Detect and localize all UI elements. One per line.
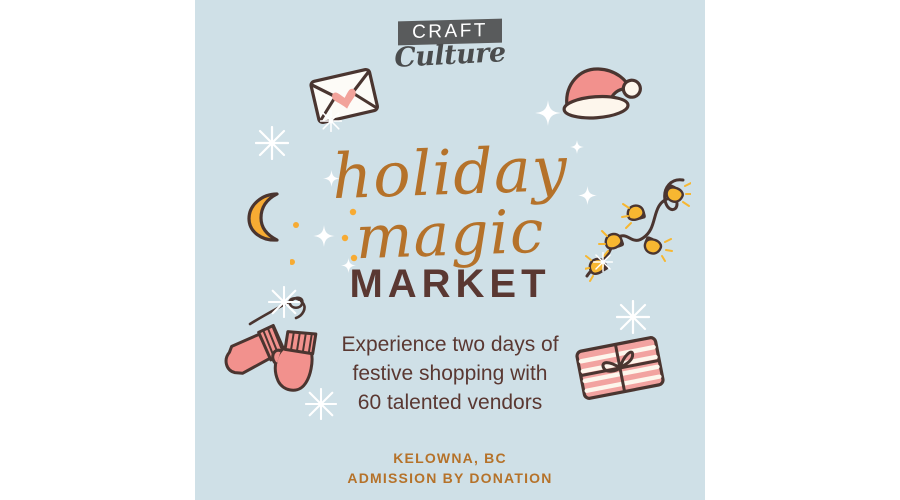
logo-culture-script: Culture [379, 36, 520, 74]
footer-admission: ADMISSION BY DONATION [195, 468, 705, 488]
description-line-2: festive shopping with [195, 359, 705, 388]
description-line-3: 60 talented vendors [195, 388, 705, 417]
sparkle-burst-icon [320, 110, 342, 132]
event-description: Experience two days of festive shopping … [195, 330, 705, 417]
description-line-1: Experience two days of [195, 330, 705, 359]
event-footer: KELOWNA, BC ADMISSION BY DONATION [195, 448, 705, 488]
headline-market: MARKET [195, 262, 705, 307]
envelope-with-heart-icon [303, 62, 385, 128]
footer-location: KELOWNA, BC [195, 448, 705, 468]
holiday-market-poster: CRAFT Culture [195, 0, 705, 500]
santa-hat-icon [552, 58, 646, 126]
brand-logo: CRAFT Culture [380, 14, 520, 76]
sparkle-star-icon [535, 100, 561, 126]
poster-stage: CRAFT Culture [0, 0, 900, 500]
